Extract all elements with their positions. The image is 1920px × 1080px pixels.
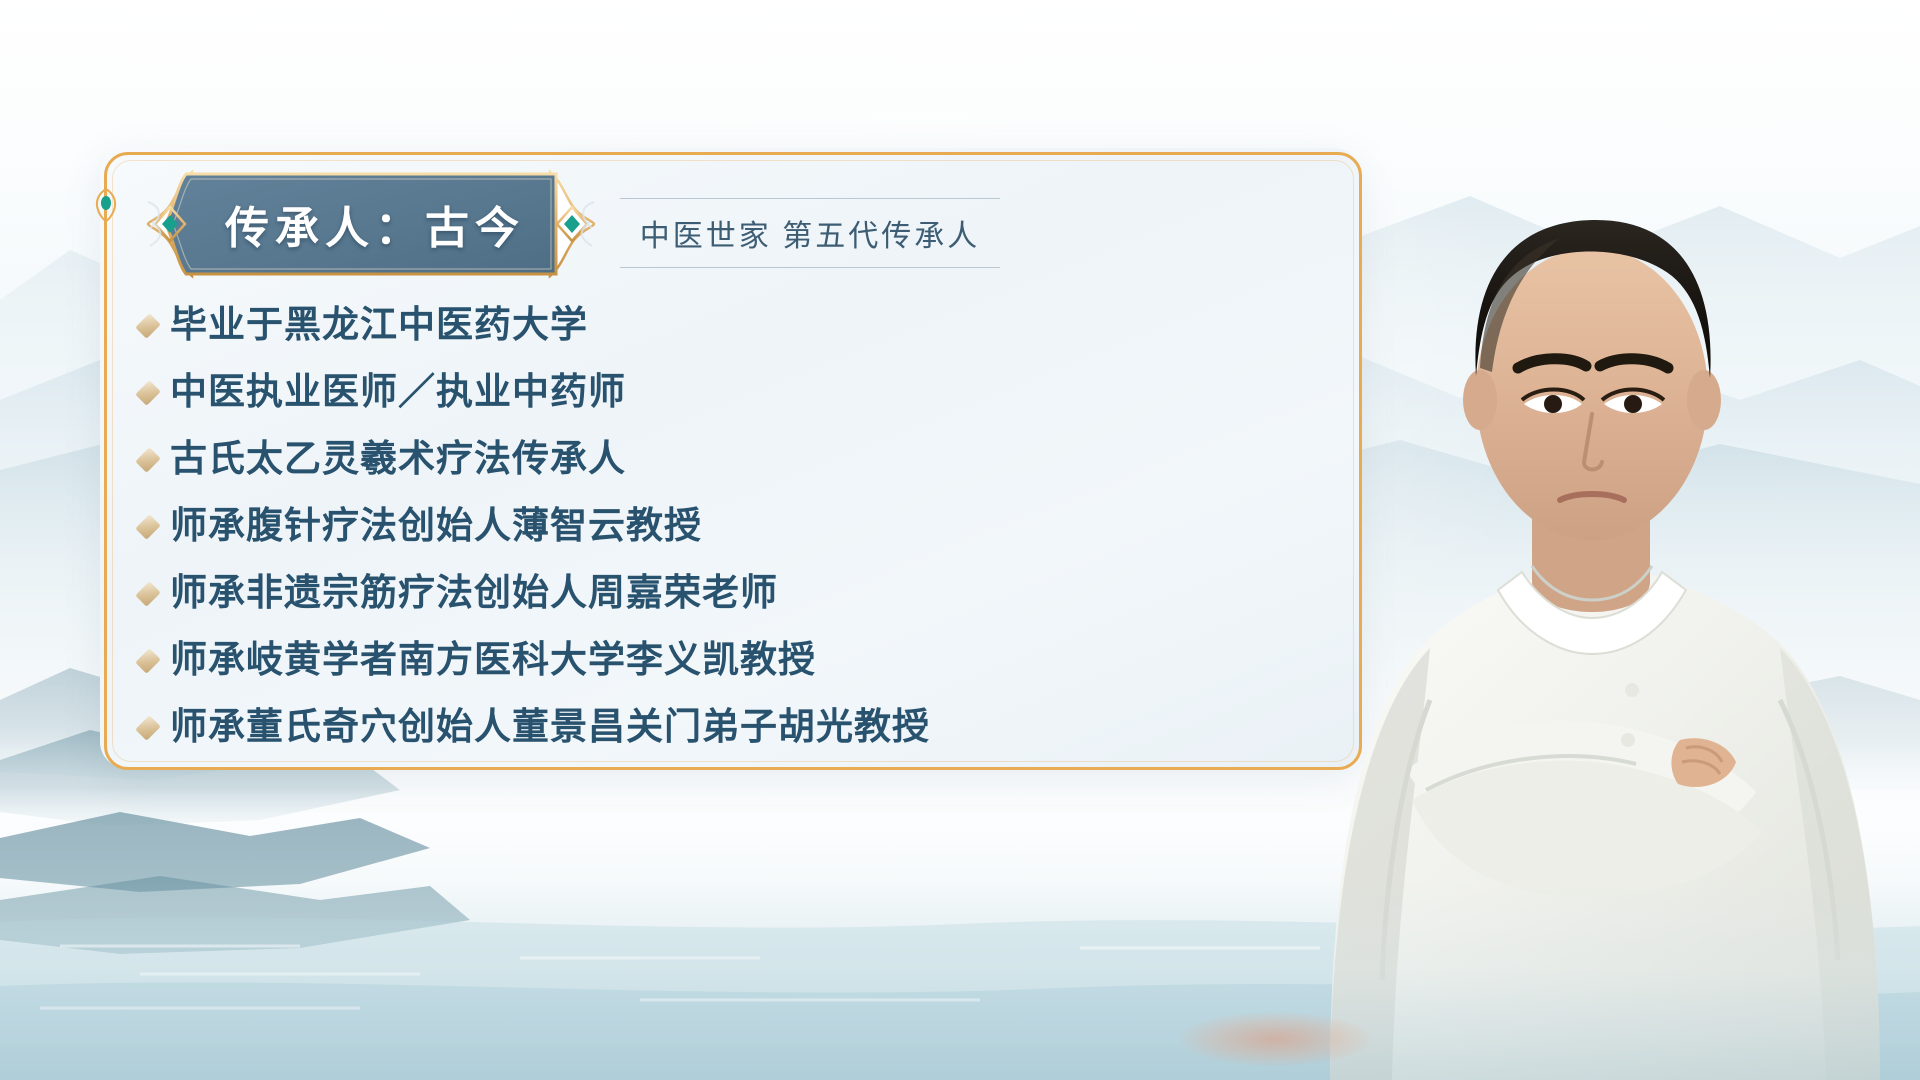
credential-text: 师承腹针疗法创始人薄智云教授 xyxy=(170,508,702,545)
list-item: 古氏太乙灵羲术疗法传承人 xyxy=(140,426,1240,493)
credential-text: 师承董氏奇穴创始人董景昌关门弟子胡光教授 xyxy=(170,709,930,746)
diamond-bullet-icon xyxy=(135,514,160,539)
list-item: 师承腹针疗法创始人薄智云教授 xyxy=(140,493,1240,560)
list-item: 毕业于黑龙江中医药大学 xyxy=(140,292,1240,359)
subtitle-block: 中医世家 第五代传承人 xyxy=(620,198,1000,268)
list-item: 师承非遗宗筋疗法创始人周嘉荣老师 xyxy=(140,560,1240,627)
diamond-bullet-icon xyxy=(135,313,160,338)
credential-text: 师承岐黄学者南方医科大学李义凯教授 xyxy=(170,642,816,679)
page-title: 传承人：古今 xyxy=(136,168,606,280)
diamond-bullet-icon xyxy=(135,447,160,472)
title-plaque: 传承人：古今 xyxy=(136,168,606,280)
subtitle-rule-bottom xyxy=(620,267,1000,268)
diamond-bullet-icon xyxy=(135,581,160,606)
poster-canvas: 传承人：古今 中医世家 第五代传承人 毕业于黑龙江中医药大学 中医执业医师／执业… xyxy=(0,0,1920,1080)
credential-text: 中医执业医师／执业中药师 xyxy=(170,374,626,411)
list-item: 中医执业医师／执业中药师 xyxy=(140,359,1240,426)
practitioner-portrait-photo xyxy=(1180,0,1920,1080)
credential-text: 师承非遗宗筋疗法创始人周嘉荣老师 xyxy=(170,575,778,612)
list-item: 师承岐黄学者南方医科大学李义凯教授 xyxy=(140,627,1240,694)
credentials-list: 毕业于黑龙江中医药大学 中医执业医师／执业中药师 古氏太乙灵羲术疗法传承人 师承… xyxy=(140,292,1240,761)
diamond-bullet-icon xyxy=(135,380,160,405)
list-item: 师承董氏奇穴创始人董景昌关门弟子胡光教授 xyxy=(140,694,1240,761)
corner-jewel-ornament xyxy=(94,188,118,222)
diamond-bullet-icon xyxy=(135,715,160,740)
subtitle-text: 中医世家 第五代传承人 xyxy=(620,199,1000,267)
credential-text: 毕业于黑龙江中医药大学 xyxy=(170,307,588,344)
credential-text: 古氏太乙灵羲术疗法传承人 xyxy=(170,441,626,478)
diamond-bullet-icon xyxy=(135,648,160,673)
